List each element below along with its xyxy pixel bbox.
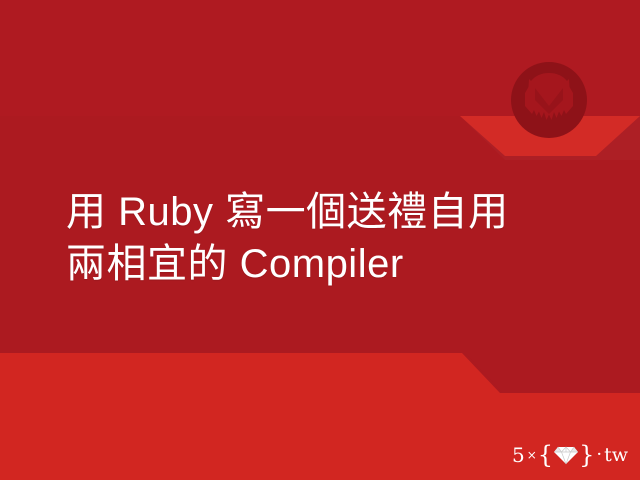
logo-tld: tw: [604, 445, 628, 465]
title-line-1: 用 Ruby 寫一個送禮自用: [66, 186, 606, 238]
diamond-icon: [553, 444, 579, 466]
footer-brand-logo: 5 × { } · tw: [512, 444, 628, 466]
logo-brace-close: }: [579, 445, 594, 465]
fox-head-emblem-icon: [511, 62, 587, 138]
logo-separator-dot: ·: [596, 445, 602, 465]
logo-times-symbol: ×: [527, 445, 537, 465]
page-title: 用 Ruby 寫一個送禮自用 兩相宜的 Compiler: [66, 186, 606, 290]
logo-multiplier: 5: [512, 445, 525, 465]
logo-brace-open: {: [538, 445, 553, 465]
slide-canvas: 用 Ruby 寫一個送禮自用 兩相宜的 Compiler 5 × { } · t…: [0, 0, 640, 480]
title-line-2: 兩相宜的 Compiler: [66, 238, 606, 290]
